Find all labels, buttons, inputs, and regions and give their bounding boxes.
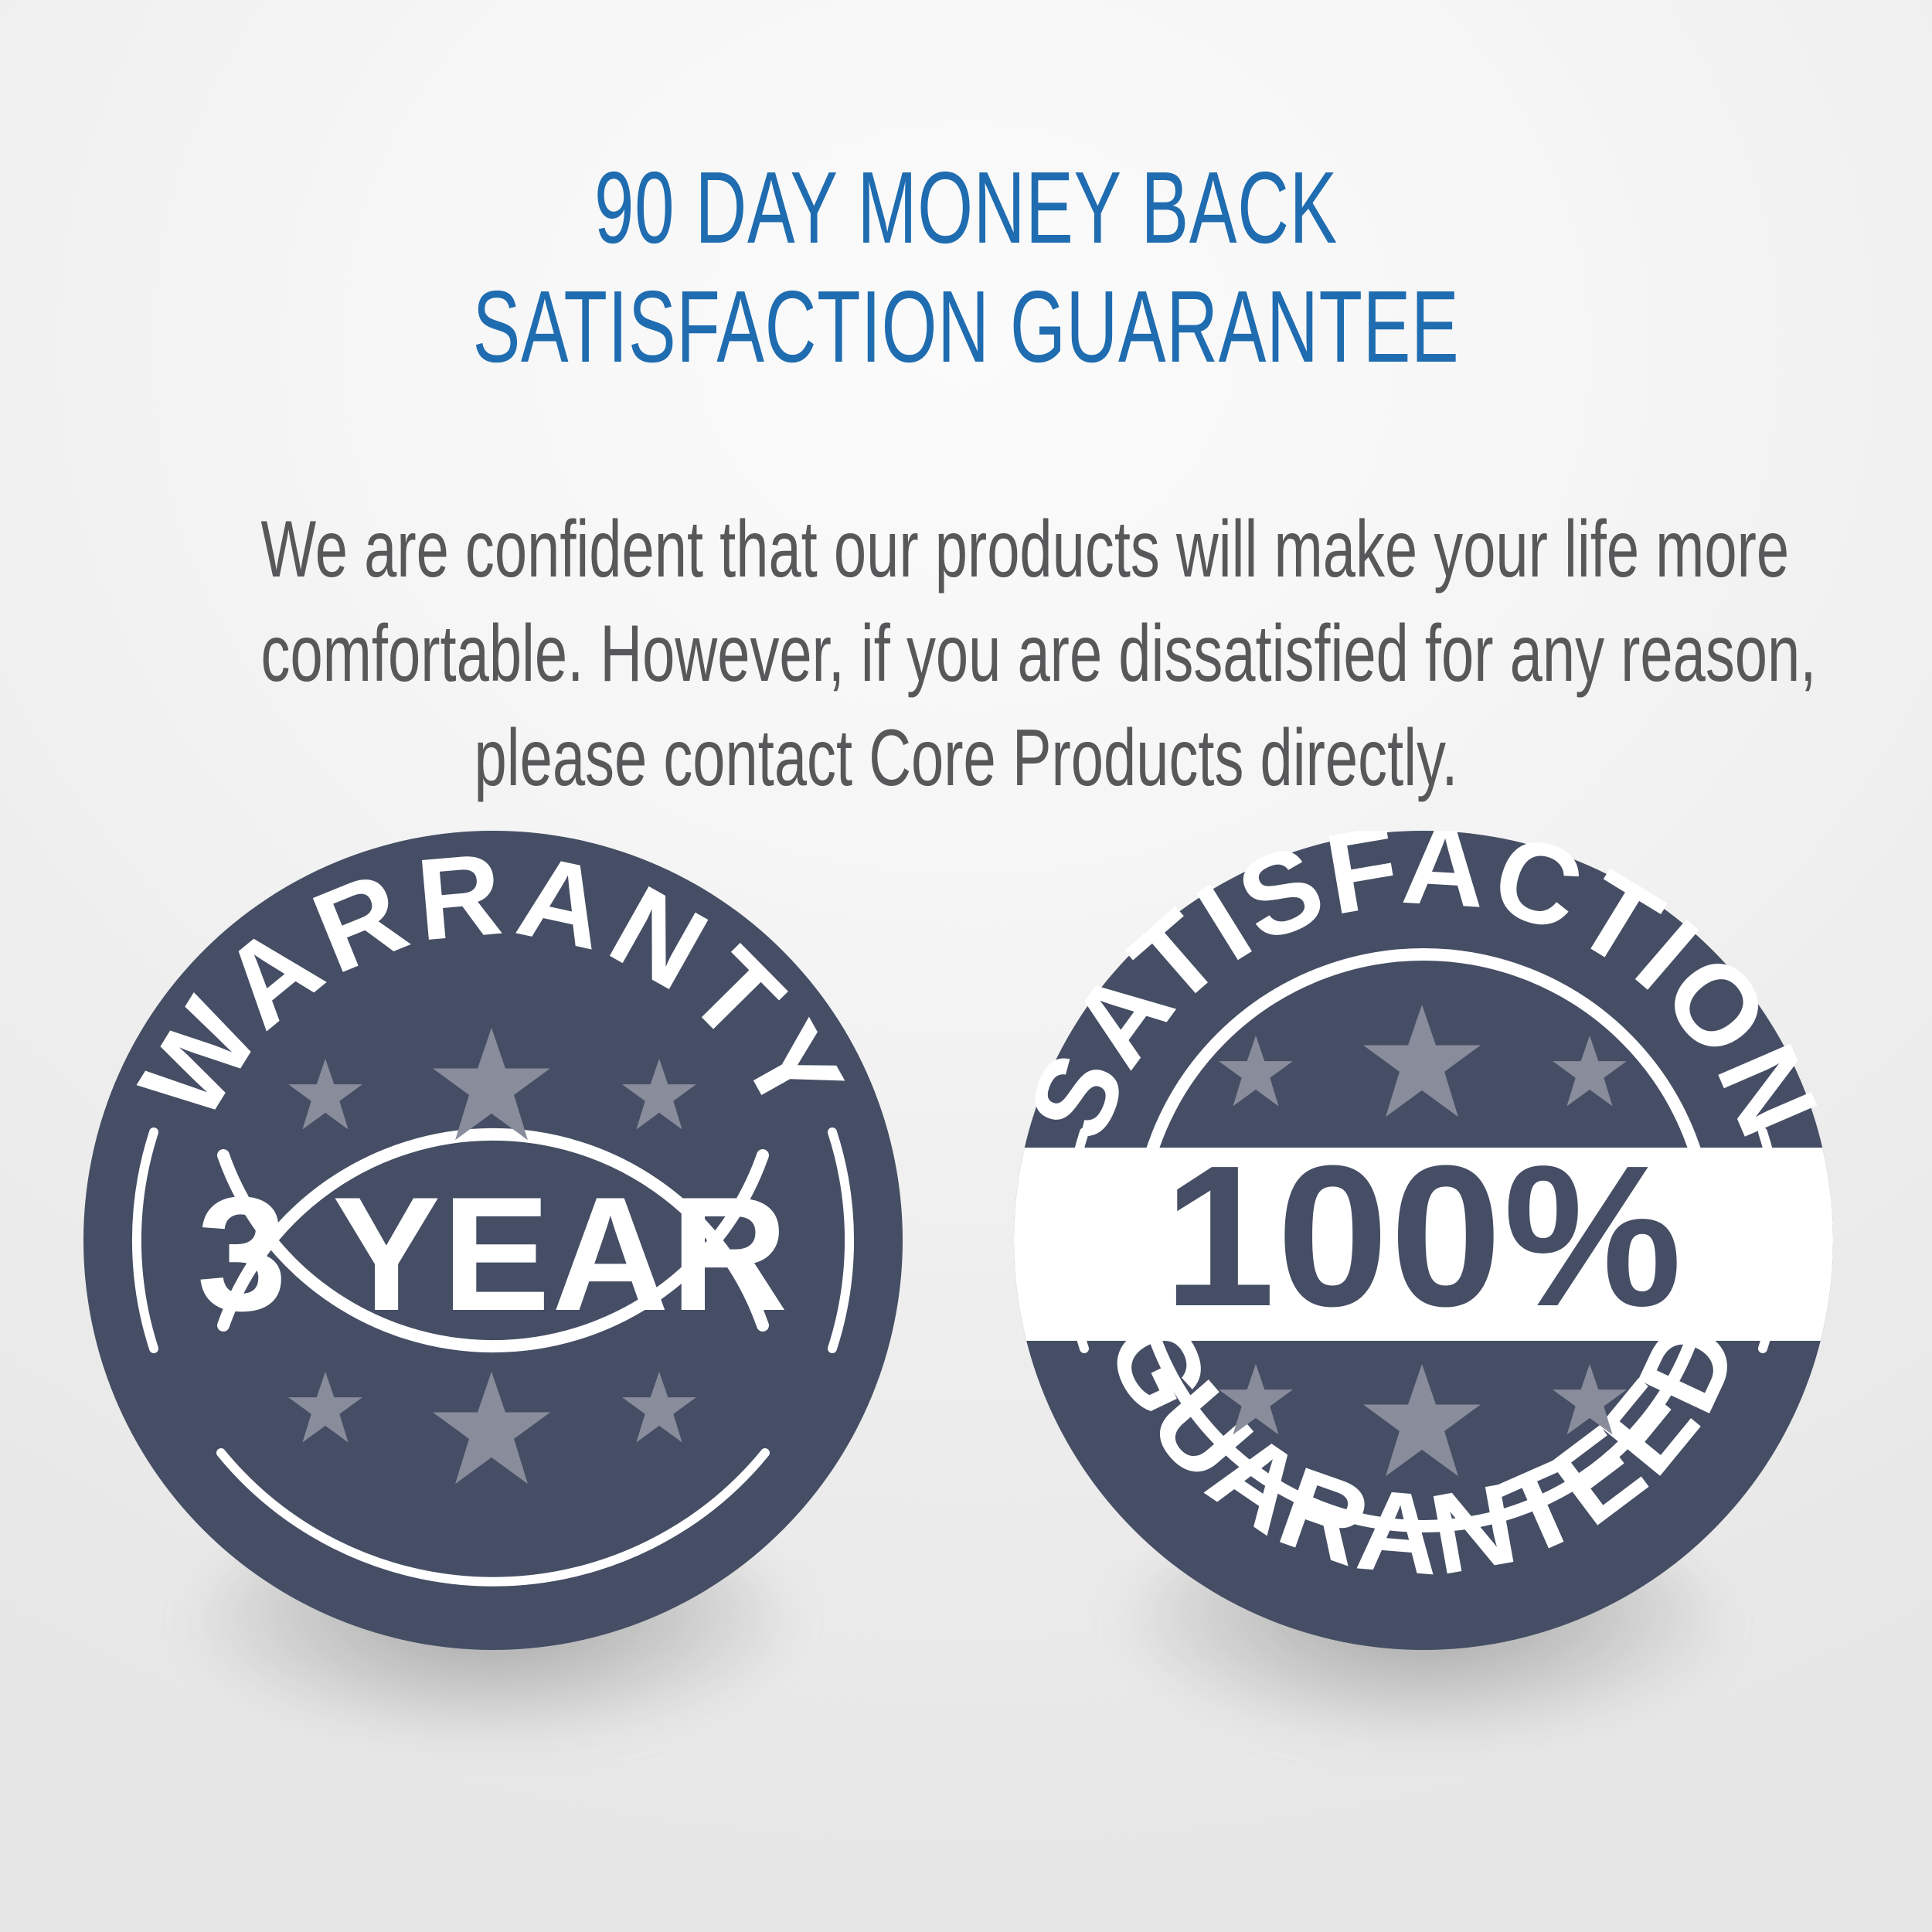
guarantee-graphic: 90 DAY MONEY BACK SATISFACTION GUARANTEE… (0, 0, 1932, 1932)
description-line-3: please contact Core Products directly. (261, 706, 1672, 811)
satisfaction-badge: SATISFACTION GUARANTEED (1014, 831, 1833, 1650)
page-title-line-1: 90 DAY MONEY BACK (290, 148, 1642, 267)
page-title-line-2: SATISFACTION GUARANTEE (290, 267, 1642, 386)
warranty-badge-graphic: WARRANTY 3 YEAR (83, 831, 903, 1650)
description-line-1: We are confident that our products will … (261, 498, 1672, 602)
warranty-center-label: 3 YEAR (197, 1163, 790, 1345)
page-title: 90 DAY MONEY BACK SATISFACTION GUARANTEE (290, 148, 1642, 385)
satisfaction-badge-graphic: SATISFACTION GUARANTEED (1014, 831, 1833, 1650)
badges-row: WARRANTY 3 YEAR (0, 831, 1932, 1681)
description-text: We are confident that our products will … (261, 498, 1672, 811)
description-line-2: comfortable. However, if you are dissati… (261, 602, 1672, 706)
satisfaction-center-label: 100% (1164, 1124, 1684, 1349)
warranty-badge: WARRANTY 3 YEAR (83, 831, 903, 1650)
